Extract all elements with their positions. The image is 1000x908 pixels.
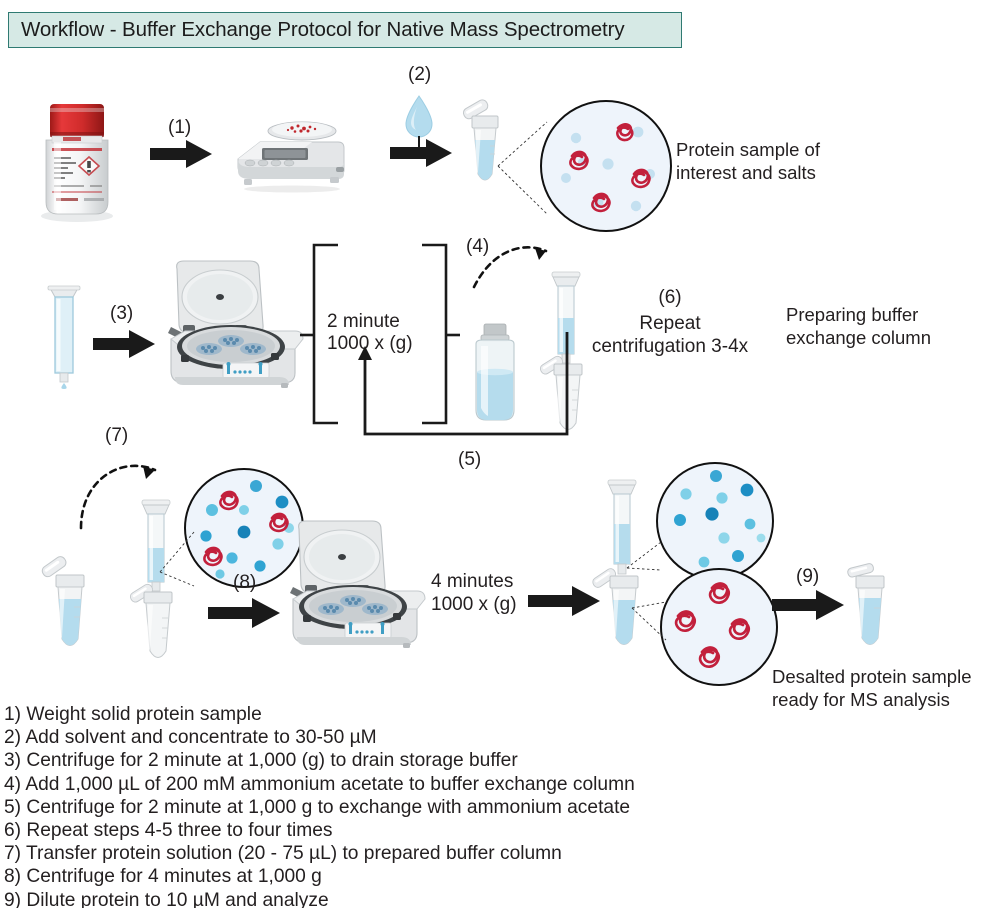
workflow-diagram-canvas: Workflow - Buffer Exchange Protocol for … [0,0,1000,908]
magnifier-connector-4 [630,600,670,646]
step-7-label: (7) [105,425,128,447]
magnifier-connector-1 [495,118,555,218]
arrow-step-3 [93,330,155,358]
arrow-right-icon [528,586,600,616]
centrifuge-figure-1 [163,255,313,395]
protocol-line: 7) Transfer protein solution (20 - 75 µL… [4,842,704,865]
balance-icon [232,115,350,193]
centrifuge-icon [285,515,435,655]
magnified-salts-icon [658,464,776,582]
arrow-right-icon [208,598,280,628]
magnifier-connector-2 [158,530,198,592]
repeat-line-2: centrifugation 3-4x [570,335,770,358]
magnified-content-icon [542,102,674,234]
arrow-step-1 [150,140,212,168]
caption-desalted-sample: Desalted protein sample ready for MS ana… [772,665,972,711]
arrow-right-icon [93,330,155,358]
arrow-to-results [528,586,600,616]
step-2-label: (2) [408,64,431,86]
protocol-line: 6) Repeat steps 4-5 three to four times [4,819,704,842]
spin-params-2-line1: 4 minutes [431,570,513,593]
protocol-step-list: 1) Weight solid protein sample 2) Add so… [4,703,704,908]
centrifuge-figure-2 [285,515,435,655]
protocol-line: 4) Add 1,000 µL of 200 mM ammonium aceta… [4,773,704,796]
magnifier-salts-only [656,462,774,580]
spin-column-icon [46,283,82,393]
protocol-line: 9) Dilute protein to 10 µM and analyze [4,889,704,908]
centrifuge-icon [163,255,313,395]
reagent-bottle-figure [32,92,122,222]
arrow-step-2 [390,139,452,167]
protocol-line: 5) Centrifuge for 2 minute at 1,000 g to… [4,796,704,819]
magnifier-protein-and-salt [540,100,672,232]
caption-preparing-column: Preparing buffer exchange column [786,303,931,349]
arrow-step-8 [208,598,280,628]
step-6-label: (6) [600,287,740,309]
magnifier-connector-3 [625,540,665,576]
protocol-line: 2) Add solvent and concentrate to 30-50 … [4,726,704,749]
eppendorf-tube-icon [846,562,896,662]
arrow-right-icon [390,139,452,167]
analytical-balance-figure [232,115,350,193]
step-5-label: (5) [458,449,481,471]
protocol-line: 1) Weight solid protein sample [4,703,704,726]
repeat-line-1: Repeat [600,312,740,335]
protocol-line: 8) Centrifuge for 4 minutes at 1,000 g [4,865,704,888]
desalted-sample-tube-figure [846,562,896,662]
arrow-right-icon [772,590,844,620]
arrow-right-icon [150,140,212,168]
magnified-protein-icon [662,570,780,688]
step-8-label: (8) [233,572,256,594]
eppendorf-tube-source [42,555,98,665]
magnifier-protein-only [660,568,778,686]
protocol-line: 3) Centrifuge for 2 minute at 1,000 (g) … [4,749,704,772]
spin-params-2-line2: 1000 x (g) [431,593,517,616]
arrow-step-9 [772,590,844,620]
step-9-label: (9) [796,566,819,588]
reagent-bottle-icon [32,92,122,222]
eppendorf-tube-icon [42,555,98,665]
step-3-label: (3) [110,303,133,325]
feedback-loop-step-5 [355,330,575,445]
step-1-label: (1) [168,117,191,139]
spin-column-figure-1 [46,283,82,393]
page-title: Workflow - Buffer Exchange Protocol for … [9,18,625,42]
diagram-title-box: Workflow - Buffer Exchange Protocol for … [8,12,682,48]
caption-protein-sample: Protein sample of interest and salts [676,138,820,184]
